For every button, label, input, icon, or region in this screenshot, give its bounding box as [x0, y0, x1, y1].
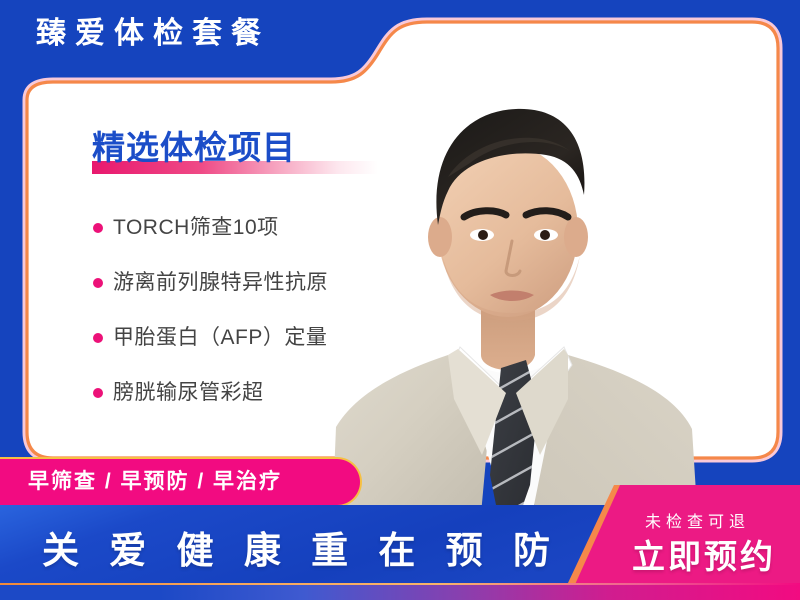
- tagline-ribbon: 早筛查 / 早预防 / 早治疗: [0, 457, 362, 507]
- bullet-dot-icon: [93, 333, 103, 343]
- portrait-photo: [330, 55, 790, 525]
- list-item: 甲胎蛋白（AFP）定量: [93, 310, 393, 365]
- list-item: TORCH筛查10项: [93, 200, 393, 255]
- bullet-dot-icon: [93, 223, 103, 233]
- header-title: 臻爱体检套餐: [36, 14, 270, 54]
- list-item-label: 游离前列腺特异性抗原: [113, 269, 328, 297]
- list-item: 游离前列腺特异性抗原: [93, 255, 393, 310]
- cta-main-label[interactable]: 立即预约: [632, 536, 776, 578]
- bullet-dot-icon: [93, 278, 103, 288]
- promo-poster: 臻爱体检套餐 精选体检项目 TORCH筛查10项 游离前列腺特异性抗原 甲胎蛋白…: [0, 0, 800, 600]
- tagline-text: 早筛查 / 早预防 / 早治疗: [28, 469, 282, 495]
- section-heading: 精选体检项目: [92, 128, 382, 168]
- slogan-bar: 关 爱 健 康 重 在 预 防: [0, 505, 640, 593]
- bullet-dot-icon: [93, 388, 103, 398]
- bottom-accent-strip: [0, 585, 800, 600]
- list-item-label: TORCH筛查10项: [113, 214, 279, 242]
- list-item: 膀胱输尿管彩超: [93, 365, 393, 420]
- list-item-label: 甲胎蛋白（AFP）定量: [113, 324, 327, 352]
- list-item-label: 膀胱输尿管彩超: [113, 379, 264, 407]
- section-heading-group: 精选体检项目: [92, 128, 382, 168]
- slogan-text: 关 爱 健 康 重 在 预 防: [42, 529, 560, 573]
- cta-sub-label: 未检查可退: [645, 513, 750, 533]
- checkup-item-list: TORCH筛查10项 游离前列腺特异性抗原 甲胎蛋白（AFP）定量 膀胱输尿管彩…: [93, 200, 393, 420]
